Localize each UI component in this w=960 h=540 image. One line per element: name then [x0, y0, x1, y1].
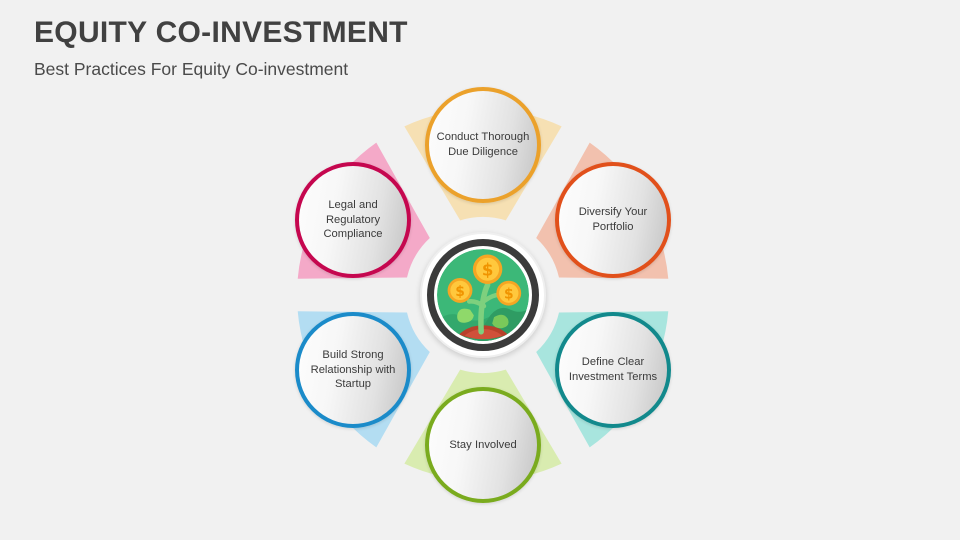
diagram-node-diversify-your-portfolio[interactable]: Diversify Your Portfolio: [555, 162, 671, 278]
diagram-node-build-strong-relationship-with-startup[interactable]: Build Strong Relationship with Startup: [295, 312, 411, 428]
node-label: Conduct Thorough Due Diligence: [431, 130, 535, 160]
diagram-node-stay-involved[interactable]: Stay Involved: [425, 387, 541, 503]
money-plant-icon: $ $ $: [437, 249, 529, 341]
node-label: Stay Involved: [431, 438, 535, 453]
diagram-center-hub: $ $ $: [420, 232, 546, 358]
radial-petal-diagram: Conduct Thorough Due Diligence Diversify…: [263, 70, 703, 530]
svg-text:$: $: [482, 261, 494, 280]
node-label: Define Clear Investment Terms: [561, 355, 665, 385]
svg-text:$: $: [455, 284, 465, 300]
svg-text:$: $: [504, 287, 514, 303]
page-title: EQUITY CO-INVESTMENT: [34, 16, 674, 50]
node-label: Legal and Regulatory Compliance: [301, 198, 405, 243]
node-label: Diversify Your Portfolio: [561, 205, 665, 235]
diagram-node-legal-and-regulatory-compliance[interactable]: Legal and Regulatory Compliance: [295, 162, 411, 278]
node-label: Build Strong Relationship with Startup: [301, 348, 405, 393]
diagram-node-define-clear-investment-terms[interactable]: Define Clear Investment Terms: [555, 312, 671, 428]
diagram-node-conduct-thorough-due-diligence[interactable]: Conduct Thorough Due Diligence: [425, 87, 541, 203]
center-hub-ring: $ $ $: [427, 239, 539, 351]
